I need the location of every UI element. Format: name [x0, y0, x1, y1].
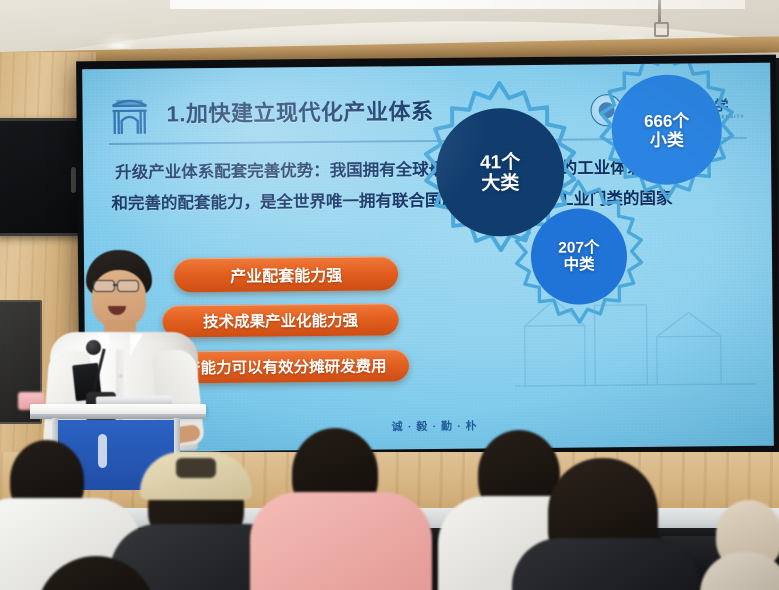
eyeglasses-icon — [117, 280, 139, 292]
archway-gate-icon — [108, 94, 150, 136]
shirt-button — [119, 374, 123, 378]
audience-shoulders — [250, 492, 432, 590]
audience-shoulders — [512, 538, 700, 590]
gear-41-text: 41个 大类 — [436, 143, 565, 204]
ceiling-hanger — [658, 0, 661, 24]
gear-207-text: 207个 中类 — [525, 232, 633, 281]
gear-207-number-top: 207个 — [558, 239, 600, 257]
cap-panel — [176, 458, 216, 478]
page-title: 1.加快建立现代化产业体系 — [166, 94, 433, 129]
gear-207-unit-top: 中类 — [563, 256, 594, 274]
eyeglasses-bridge — [113, 284, 118, 286]
pill-industry-support: 产业配套能力强 — [174, 256, 398, 292]
gear-41-number-top: 41个 — [480, 152, 520, 174]
microphone-head-icon — [86, 340, 101, 355]
gear-666-number-top: 666个 — [644, 111, 690, 130]
gear-666-unit-top: 小类 — [650, 131, 684, 150]
gear-41-unit-top: 大类 — [481, 173, 519, 195]
shirt-collar-right — [130, 334, 143, 356]
university-motto: 诚·毅·勤·朴 — [392, 417, 482, 434]
gear-666-text: 666个 小类 — [607, 103, 728, 158]
lecture-photo: 1.加快建立现代化产业体系 浙江工商大学 ZHEJIANG GONGSHANG … — [0, 0, 779, 590]
wall-mounted-display — [0, 118, 85, 236]
eyeglasses-icon — [93, 280, 115, 292]
body-lead: 升级产业体系配套完善优势： — [115, 161, 330, 182]
